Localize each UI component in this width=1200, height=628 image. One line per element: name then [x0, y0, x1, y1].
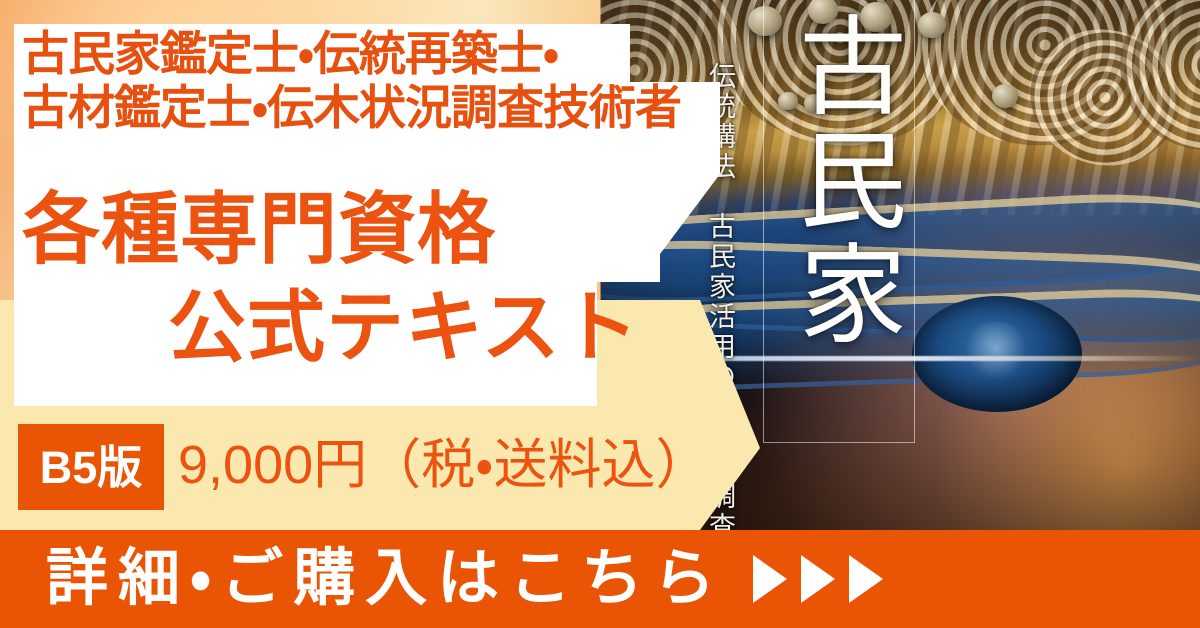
headline-line-2: 古材鑑定士・伝木状況調査技術者	[22, 80, 722, 136]
headline-line-1: 古民家鑑定士・伝統再築士・	[22, 26, 722, 82]
subhead-line-2: 公式テキスト	[168, 288, 640, 366]
format-badge: B5版	[18, 424, 164, 510]
cta-bar[interactable]: 詳細・ご購入はこちら	[0, 530, 1200, 628]
cta-arrows	[753, 555, 883, 603]
subhead-line-1: 各種専門資格	[22, 190, 496, 268]
promo-banner: 古民家 伝統構法 古民家活用のための調査と再生の 古民家鑑定士・伝統再築士・ 古…	[0, 0, 1200, 628]
cover-title-vertical: 古民家	[778, 10, 898, 440]
chevron-right-icon-1	[753, 555, 787, 603]
cta-label[interactable]: 詳細・ご購入はこちら	[46, 548, 725, 610]
price-text: 9,000円（税・送料込）	[178, 430, 710, 500]
chevron-right-icon-3	[849, 555, 883, 603]
chevron-right-icon-2	[801, 555, 835, 603]
headline-block: 古民家鑑定士・伝統再築士・ 古材鑑定士・伝木状況調査技術者	[22, 26, 722, 137]
format-badge-label: B5版	[40, 445, 143, 490]
